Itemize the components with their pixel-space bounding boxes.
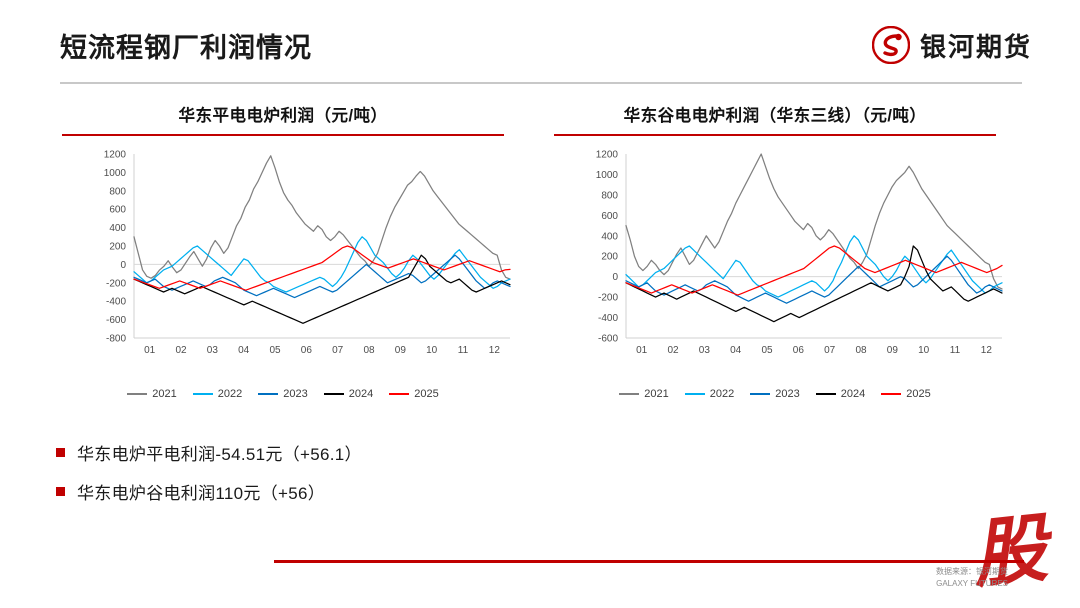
svg-text:0: 0 — [612, 272, 618, 283]
svg-text:1000: 1000 — [596, 170, 619, 181]
legend-item-2024: 2024 — [324, 388, 373, 400]
legend-swatch-icon — [127, 393, 147, 396]
svg-text:400: 400 — [601, 231, 618, 242]
svg-text:09: 09 — [395, 345, 407, 356]
page-header: 短流程钢厂利润情况 银河期货 — [0, 0, 1080, 88]
svg-text:-400: -400 — [106, 297, 126, 308]
svg-text:05: 05 — [761, 345, 773, 356]
svg-text:600: 600 — [601, 211, 618, 222]
svg-text:07: 07 — [332, 345, 344, 356]
svg-text:12: 12 — [981, 345, 993, 356]
legend-swatch-icon — [193, 393, 213, 396]
bullet-item: 华东电炉平电利润-54.51元（+56.1） — [56, 440, 676, 465]
svg-text:01: 01 — [144, 345, 156, 356]
svg-text:800: 800 — [601, 190, 618, 201]
svg-text:09: 09 — [887, 345, 899, 356]
series-line-2025 — [626, 246, 1002, 295]
legend-item-2025: 2025 — [389, 388, 438, 400]
brand-logo: 银河期货 — [872, 26, 1032, 64]
bullet-square-icon — [56, 448, 65, 457]
legend-swatch-icon — [389, 393, 409, 396]
chart-canvas-left: 120010008006004002000-200-400-600-800010… — [48, 136, 518, 386]
legend-swatch-icon — [816, 393, 836, 396]
page-title: 短流程钢厂利润情况 — [60, 26, 312, 65]
legend-item-2021: 2021 — [127, 388, 176, 400]
bullet-text-1: 华东电炉平电利润-54.51元（+56.1） — [77, 440, 362, 465]
legend-label: 2022 — [710, 388, 734, 400]
legend-label: 2025 — [414, 388, 438, 400]
svg-text:-600: -600 — [106, 315, 126, 326]
legend-label: 2025 — [906, 388, 930, 400]
summary-bullets: 华东电炉平电利润-54.51元（+56.1） 华东电炉谷电利润110元（+56） — [56, 440, 676, 518]
svg-text:08: 08 — [855, 345, 867, 356]
data-source-note: 数据来源：银河期货GALAXY FUTURES — [936, 566, 1008, 590]
chart-panel-right: 华东谷电电炉利润（华东三线）（元/吨） 12001000800600400200… — [540, 92, 1010, 402]
svg-text:200: 200 — [109, 242, 126, 253]
svg-text:04: 04 — [730, 345, 742, 356]
brand-name: 银河期货 — [920, 27, 1032, 64]
footer-note-line: 数据来源：银河期货 — [936, 566, 1008, 578]
legend-item-2021: 2021 — [619, 388, 668, 400]
svg-text:-800: -800 — [106, 334, 126, 345]
svg-text:11: 11 — [458, 345, 469, 356]
legend-item-2025: 2025 — [881, 388, 930, 400]
legend-item-2023: 2023 — [750, 388, 799, 400]
legend-swatch-icon — [750, 393, 770, 396]
legend-item-2024: 2024 — [816, 388, 865, 400]
legend-item-2023: 2023 — [258, 388, 307, 400]
svg-text:12: 12 — [489, 345, 501, 356]
line-chart-left: 120010008006004002000-200-400-600-800010… — [48, 136, 518, 386]
legend-swatch-icon — [324, 393, 344, 396]
line-chart-right: 120010008006004002000-200-400-6000102030… — [540, 136, 1010, 386]
svg-text:06: 06 — [301, 345, 313, 356]
legend-label: 2021 — [644, 388, 668, 400]
svg-text:02: 02 — [175, 345, 187, 356]
svg-text:08: 08 — [363, 345, 375, 356]
legend-label: 2022 — [218, 388, 242, 400]
chart-legend-left: 20212022202320242025 — [48, 388, 518, 400]
svg-text:400: 400 — [109, 223, 126, 234]
svg-text:03: 03 — [207, 345, 219, 356]
svg-text:10: 10 — [918, 345, 930, 356]
chart-canvas-right: 120010008006004002000-200-400-6000102030… — [540, 136, 1010, 386]
legend-label: 2023 — [775, 388, 799, 400]
legend-label: 2023 — [283, 388, 307, 400]
chart-legend-right: 20212022202320242025 — [540, 388, 1010, 400]
legend-swatch-icon — [685, 393, 705, 396]
svg-text:05: 05 — [269, 345, 281, 356]
series-line-2025 — [134, 246, 510, 290]
svg-text:-200: -200 — [598, 293, 618, 304]
svg-text:10: 10 — [426, 345, 438, 356]
legend-swatch-icon — [619, 393, 639, 396]
chart-title-right: 华东谷电电炉利润（华东三线）（元/吨） — [540, 92, 1010, 126]
svg-text:1000: 1000 — [104, 168, 127, 179]
svg-text:06: 06 — [793, 345, 805, 356]
svg-text:0: 0 — [120, 260, 126, 271]
bullet-text-2: 华东电炉谷电利润110元（+56） — [77, 479, 325, 504]
legend-swatch-icon — [881, 393, 901, 396]
legend-label: 2024 — [349, 388, 373, 400]
chart-panel-left: 华东平电电炉利润（元/吨） 120010008006004002000-200-… — [48, 92, 518, 402]
svg-text:03: 03 — [699, 345, 711, 356]
legend-label: 2024 — [841, 388, 865, 400]
series-line-2022 — [626, 236, 1002, 297]
svg-text:800: 800 — [109, 186, 126, 197]
svg-text:-200: -200 — [106, 278, 126, 289]
svg-text:11: 11 — [950, 345, 961, 356]
legend-swatch-icon — [258, 393, 278, 396]
footer-note-line: GALAXY FUTURES — [936, 578, 1008, 590]
svg-text:1200: 1200 — [104, 150, 127, 161]
svg-text:02: 02 — [667, 345, 679, 356]
legend-item-2022: 2022 — [685, 388, 734, 400]
svg-text:600: 600 — [109, 205, 126, 216]
chart-title-left: 华东平电电炉利润（元/吨） — [48, 92, 518, 126]
svg-text:-400: -400 — [598, 313, 618, 324]
galaxy-futures-logo-icon — [872, 26, 910, 64]
header-divider — [60, 82, 1022, 84]
legend-label: 2021 — [152, 388, 176, 400]
svg-text:200: 200 — [601, 252, 618, 263]
footer-divider — [274, 560, 1024, 563]
series-line-2024 — [134, 255, 510, 323]
svg-text:-600: -600 — [598, 334, 618, 345]
bullet-square-icon — [56, 487, 65, 496]
svg-text:1200: 1200 — [596, 150, 619, 161]
svg-text:04: 04 — [238, 345, 250, 356]
series-line-2021 — [134, 156, 510, 279]
svg-text:01: 01 — [636, 345, 648, 356]
legend-item-2022: 2022 — [193, 388, 242, 400]
svg-text:07: 07 — [824, 345, 836, 356]
bullet-item: 华东电炉谷电利润110元（+56） — [56, 479, 676, 504]
